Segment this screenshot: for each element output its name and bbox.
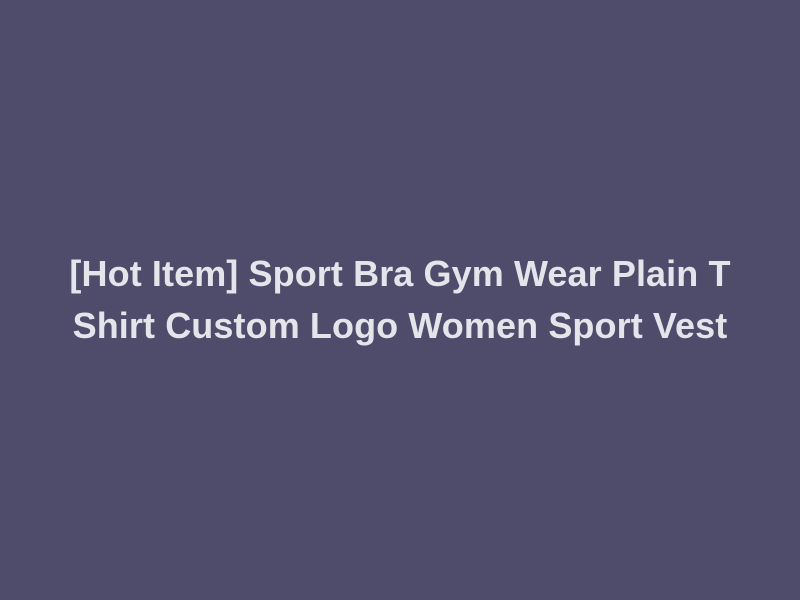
title-block: [Hot Item] Sport Bra Gym Wear Plain T Sh…	[52, 248, 748, 352]
product-title-placeholder-card: [Hot Item] Sport Bra Gym Wear Plain T Sh…	[0, 0, 800, 600]
product-title: [Hot Item] Sport Bra Gym Wear Plain T Sh…	[55, 248, 745, 352]
